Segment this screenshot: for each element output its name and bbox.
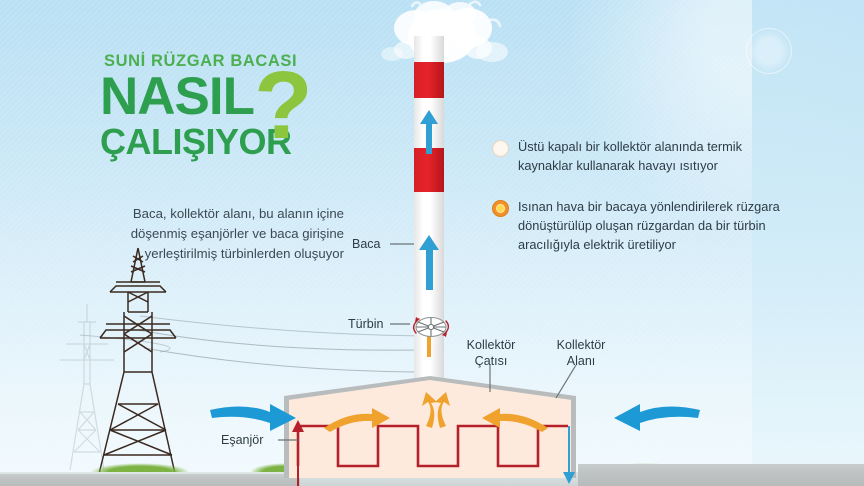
label-collector-area: Kollektör Alanı — [542, 338, 620, 369]
question-mark-icon: ? — [254, 68, 313, 145]
sun-icon — [492, 200, 509, 217]
lead-paragraph: Baca, kollektör alanı, bu alanın içine d… — [96, 204, 344, 263]
label-collector-roof-line1: Kollektör — [452, 338, 530, 354]
bullet-list: Üstü kapalı bir kollektör alanında termi… — [492, 138, 792, 277]
label-collector-area-line1: Kollektör — [542, 338, 620, 354]
pale-circle-icon — [492, 140, 509, 157]
page-title: NASIL — [100, 72, 254, 123]
label-heat-exchanger: Eşanjör — [221, 433, 263, 449]
label-turbine: Türbin — [348, 317, 383, 333]
label-chimney: Baca — [352, 237, 381, 253]
list-item: Isınan hava bir bacaya yönlendirilerek r… — [492, 198, 792, 255]
bullet-text: Üstü kapalı bir kollektör alanında termi… — [518, 138, 792, 176]
infographic-canvas: SUNİ RÜZGAR BACASI NASIL ÇALIŞIYOR ? Bac… — [0, 0, 864, 486]
list-item: Üstü kapalı bir kollektör alanında termi… — [492, 138, 792, 176]
label-collector-area-line2: Alanı — [542, 354, 620, 370]
label-collector-roof: Kollektör Çatısı — [452, 338, 530, 369]
label-collector-roof-line2: Çatısı — [452, 354, 530, 370]
bullet-text: Isınan hava bir bacaya yönlendirilerek r… — [518, 198, 792, 255]
